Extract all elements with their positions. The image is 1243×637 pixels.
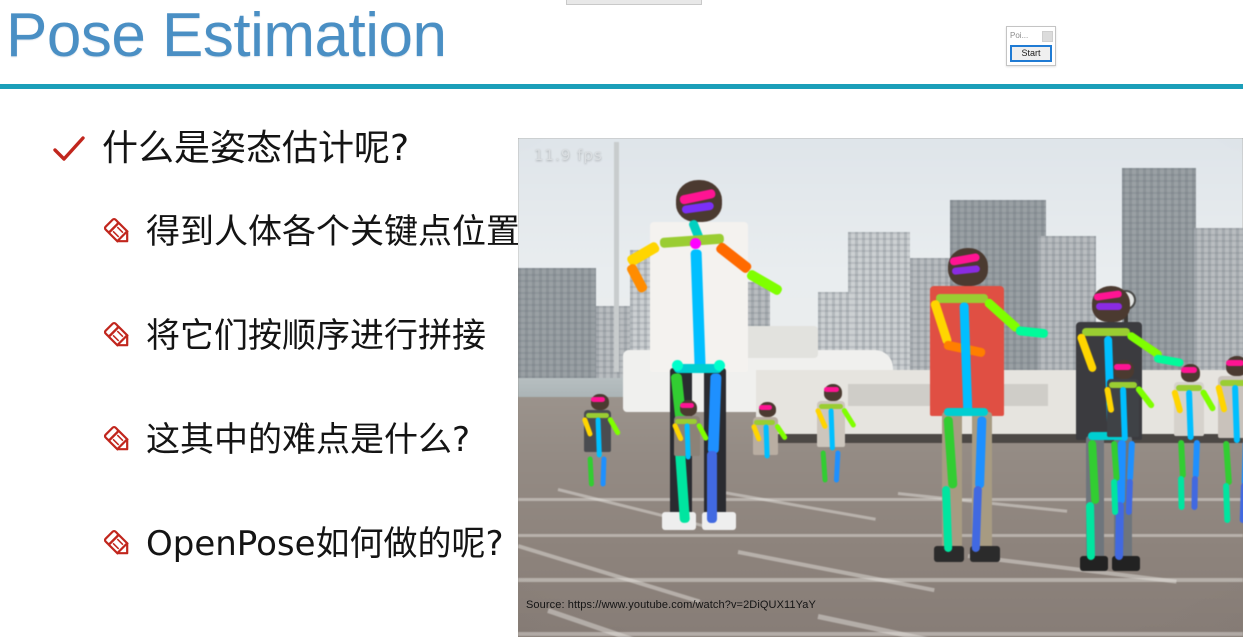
bone-head <box>759 405 772 410</box>
list-item-label: 将它们按顺序进行拼接 <box>146 316 486 356</box>
bone-head <box>680 403 694 408</box>
bone-thigh <box>588 456 595 486</box>
bone-head <box>591 397 605 402</box>
person-skeleton <box>1166 364 1228 544</box>
start-button[interactable]: Start <box>1010 45 1052 62</box>
list-item-label: 什么是姿态估计呢? <box>102 129 409 169</box>
person-skeleton <box>810 384 866 524</box>
list-item-label: 得到人体各个关键点位置 <box>146 212 520 252</box>
bone-thigh <box>1111 441 1120 481</box>
bone-shoulder <box>1082 328 1130 336</box>
list-item-label: OpenPose如何做的呢? <box>146 524 504 564</box>
bullet-list: 什么是姿态估计呢? 得到人体各个关键点位置 <box>52 118 512 596</box>
list-item[interactable]: 得到人体各个关键点位置 <box>52 180 512 284</box>
pencil-icon <box>102 320 134 352</box>
person-skeleton <box>908 248 1058 637</box>
bone-head <box>1226 360 1243 366</box>
person-head <box>1226 356 1243 376</box>
pencil-icon <box>102 216 134 248</box>
bone-shin <box>1111 479 1118 515</box>
person-skeleton <box>578 394 632 524</box>
bone-fore-arm <box>626 263 649 294</box>
check-icon <box>52 134 86 164</box>
bone-shin <box>1191 476 1198 510</box>
source-caption: Source: https://www.youtube.com/watch?v=… <box>526 599 816 611</box>
bone-thigh <box>1178 440 1186 478</box>
bone-shin <box>1126 479 1133 515</box>
list-item[interactable]: OpenPose如何做的呢? <box>52 492 512 596</box>
list-item-label: 这其中的难点是什么? <box>146 420 470 460</box>
person-skeleton <box>668 400 718 520</box>
person-skeleton <box>748 402 796 518</box>
fps-overlay: 11.9 fps <box>534 146 603 164</box>
bone-fore-arm <box>746 269 784 297</box>
top-cutoff-bar <box>566 0 702 5</box>
bone-head <box>1096 303 1122 310</box>
title-divider <box>0 84 1243 89</box>
joint <box>672 360 683 371</box>
person-skeleton <box>618 168 818 588</box>
building <box>518 268 596 378</box>
bone-thigh <box>600 456 606 486</box>
bone-head <box>1181 367 1197 373</box>
person-skeleton <box>1098 360 1164 550</box>
bone-shin <box>1240 483 1243 523</box>
video-player[interactable]: 11.9 fps Source: https://www.youtube.com… <box>518 138 1243 637</box>
joint <box>714 360 725 371</box>
pencil-icon <box>102 528 134 560</box>
bone-thigh <box>834 450 841 482</box>
list-item[interactable]: 什么是姿态估计呢? <box>52 118 512 180</box>
control-widget[interactable]: Poi... Start <box>1006 26 1056 66</box>
bone-hip <box>944 408 988 416</box>
video-frame <box>518 138 1243 637</box>
bone-head <box>824 387 839 392</box>
square-icon[interactable] <box>1042 31 1053 42</box>
page-title: Pose Estimation <box>6 0 447 76</box>
list-item[interactable]: 将它们按顺序进行拼接 <box>52 284 512 388</box>
list-item[interactable]: 这其中的难点是什么? <box>52 388 512 492</box>
bone-thigh <box>1193 440 1200 478</box>
control-widget-titlebar: Poi... <box>1007 27 1055 44</box>
bone-shin <box>1178 476 1185 510</box>
pencil-icon <box>102 424 134 456</box>
bone-fore-arm <box>1016 326 1049 338</box>
bone-head <box>1114 364 1131 370</box>
bone-thigh <box>821 450 828 482</box>
bone-shin <box>1086 502 1095 560</box>
bone-thigh <box>1127 441 1135 481</box>
joint <box>690 238 701 249</box>
control-widget-label: Poi... <box>1010 31 1028 41</box>
